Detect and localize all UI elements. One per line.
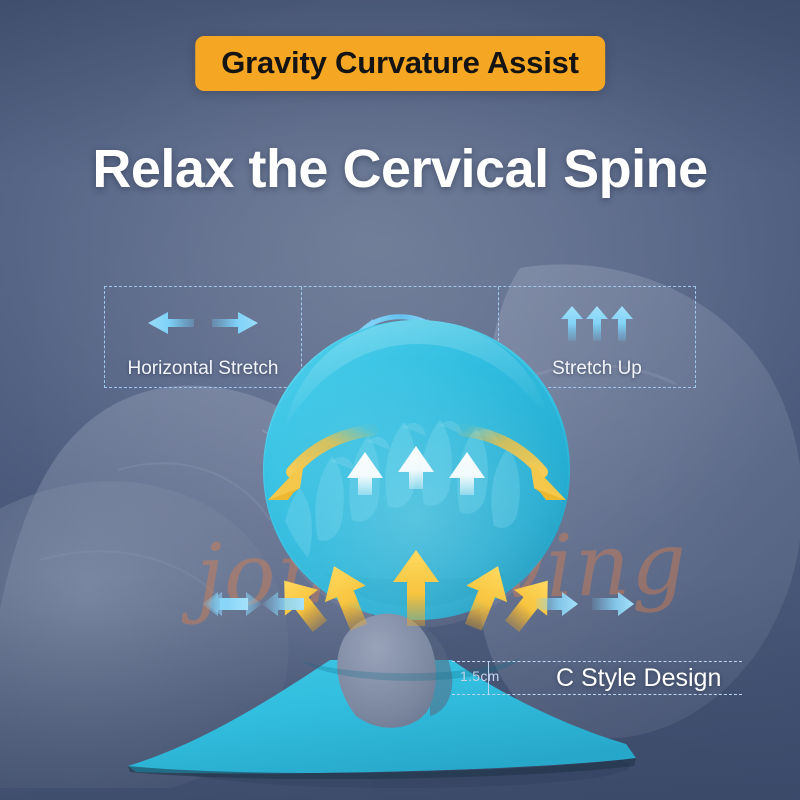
page-title: Relax the Cervical Spine — [0, 140, 800, 199]
feature-label: Stretch Up — [552, 358, 642, 380]
triple-up-arrow-icon — [499, 303, 695, 343]
feature-stretch-up: Stretch Up — [498, 287, 695, 387]
feature-horizontal-stretch: Horizontal Stretch — [105, 287, 301, 387]
curved-double-arrow-icon — [302, 303, 498, 343]
product-marketing-image: Gravity Curvature Assist Relax the Cervi… — [0, 0, 800, 800]
gravity-curvature-banner: Gravity Curvature Assist — [195, 36, 605, 91]
double-horizontal-arrow-icon — [105, 303, 301, 343]
feature-box-group: Horizontal Stretch Curvat — [104, 286, 696, 388]
feature-label: Curvature Stretch — [326, 358, 475, 380]
feature-curvature-stretch: Curvature Stretch — [301, 287, 498, 387]
banner-label: Gravity Curvature Assist — [221, 47, 579, 78]
c-style-design-label: C Style Design — [556, 664, 721, 693]
feature-label: Horizontal Stretch — [127, 358, 278, 380]
